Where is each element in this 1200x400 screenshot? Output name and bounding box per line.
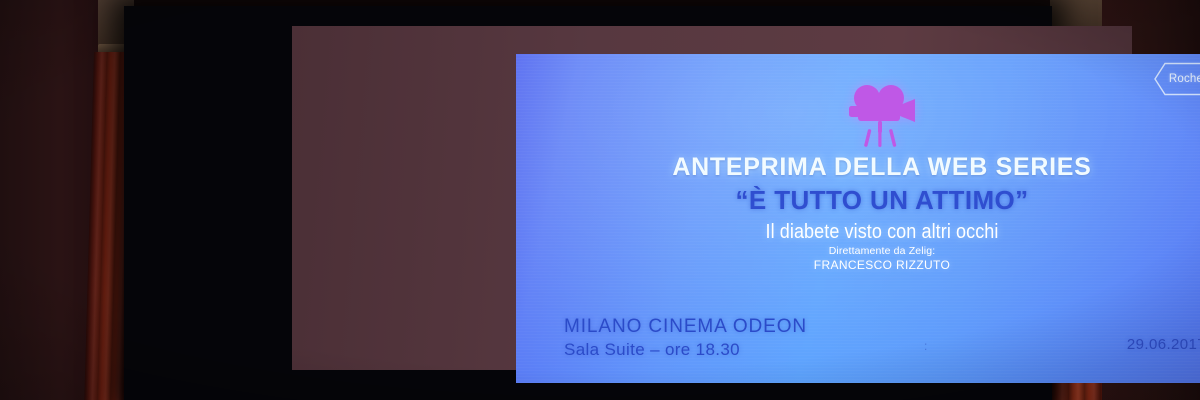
- movie-camera-icon: [841, 84, 923, 148]
- faint-artifact-mark: :: [924, 343, 927, 357]
- credits-intro: Direttamente da Zelig:: [516, 244, 1200, 258]
- headline-title: “È TUTTO UN ATTIMO”: [516, 186, 1200, 215]
- slide-venue: MILANO CINEMA ODEON Sala Suite – ore 18.…: [564, 315, 807, 361]
- headline-subtitle: Il diabete visto con altri occhi: [553, 221, 1200, 244]
- credits-performer: FRANCESCO RIZZUTO: [516, 258, 1200, 274]
- event-date: 29.06.2017: [1127, 336, 1200, 353]
- slide-credits: Direttamente da Zelig: FRANCESCO RIZZUTO: [516, 244, 1200, 274]
- venue-name: MILANO CINEMA ODEON: [564, 315, 807, 339]
- roche-logo: Roche: [1154, 62, 1200, 96]
- roche-wordmark: Roche: [1154, 62, 1200, 96]
- cinema-scene: Roche: [0, 0, 1200, 400]
- venue-room: Sala Suite – ore 18.30: [564, 339, 807, 361]
- headline-kicker: ANTEPRIMA DELLA WEB SERIES: [516, 154, 1200, 182]
- screen-border: Roche: [292, 26, 1132, 370]
- projected-slide: Roche: [516, 54, 1200, 383]
- screen-frame: Roche: [124, 6, 1052, 400]
- slide-headline: ANTEPRIMA DELLA WEB SERIES “È TUTTO UN A…: [516, 154, 1200, 244]
